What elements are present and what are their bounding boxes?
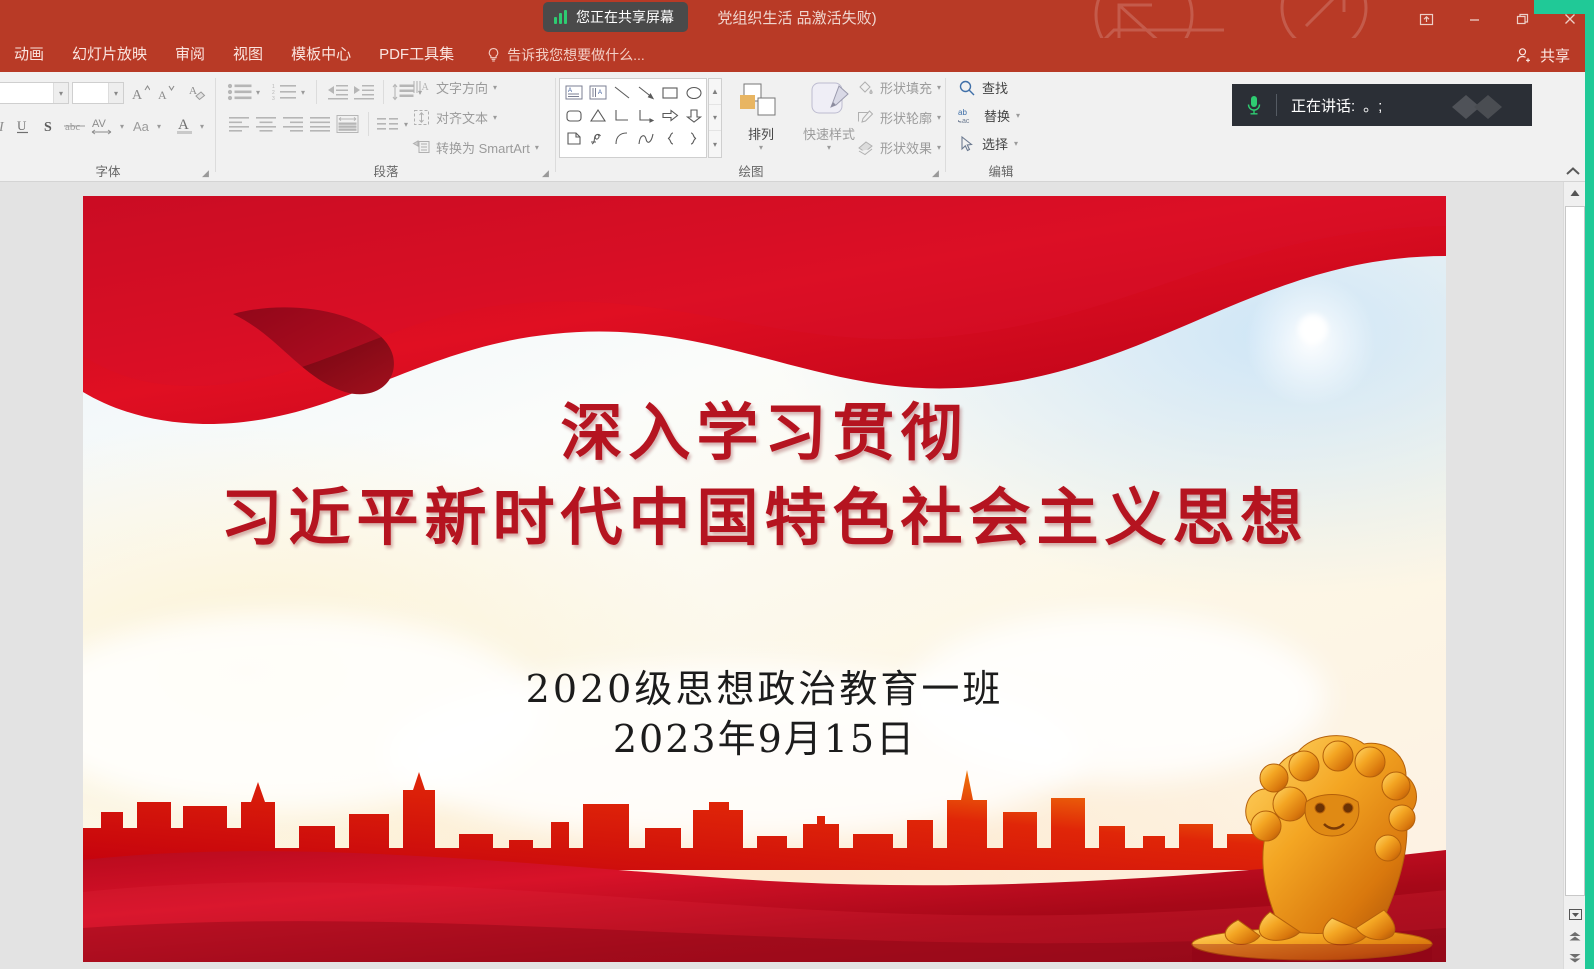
shape-ellipse-icon[interactable] bbox=[685, 83, 703, 102]
align-left-button[interactable] bbox=[226, 112, 252, 136]
chevron-down-icon[interactable]: ▾ bbox=[120, 122, 124, 131]
slide-subtitle[interactable]: 2020级思想政治教育一班 2023年9月15日 bbox=[83, 664, 1446, 764]
shape-effects-label: 形状效果 bbox=[880, 138, 932, 157]
shape-triangle-icon[interactable] bbox=[589, 106, 607, 125]
shrink-font-button[interactable]: A bbox=[153, 81, 177, 105]
shape-vertical-textbox-icon[interactable]: A bbox=[589, 83, 607, 102]
tab-slideshow[interactable]: 幻灯片放映 bbox=[58, 38, 161, 72]
title-bar: 党组织生活 品激活失败) 您正在共享屏幕 bbox=[0, 0, 1594, 38]
share-button[interactable]: 共享 bbox=[1505, 41, 1580, 69]
arrange-button[interactable]: 排列 ▾ bbox=[731, 80, 791, 152]
shape-fill-label: 形状填充 bbox=[880, 78, 932, 97]
shape-line-icon[interactable] bbox=[613, 83, 631, 102]
chevron-down-icon[interactable]: ▾ bbox=[937, 83, 941, 92]
svg-text:A: A bbox=[568, 88, 572, 94]
select-button[interactable]: 选择 ▾ bbox=[958, 134, 1018, 153]
group-label-drawing: 绘图 bbox=[556, 161, 946, 180]
svg-text:ac: ac bbox=[962, 118, 970, 125]
text-shadow-button[interactable]: S bbox=[38, 114, 60, 138]
shape-arc-icon[interactable] bbox=[613, 129, 631, 148]
replace-label: 替换 bbox=[984, 106, 1010, 125]
shape-outline-button[interactable]: 形状轮廓 ▾ bbox=[856, 108, 941, 127]
align-right-button[interactable] bbox=[280, 112, 306, 136]
tab-pdf-tools[interactable]: PDF工具集 bbox=[365, 38, 468, 72]
convert-to-smartart-button[interactable]: 转换为 SmartArt ▾ bbox=[412, 138, 539, 157]
chevron-down-icon[interactable]: ▾ bbox=[937, 143, 941, 152]
tab-animations[interactable]: 动画 bbox=[0, 38, 58, 72]
underline-button[interactable]: U bbox=[12, 114, 34, 138]
svg-text:A: A bbox=[598, 90, 602, 96]
align-text-label: 对齐文本 bbox=[436, 108, 488, 127]
distribute-text-button[interactable] bbox=[334, 112, 362, 136]
replace-icon: abac bbox=[958, 107, 978, 125]
align-center-button[interactable] bbox=[253, 112, 279, 136]
quick-styles-button[interactable]: 快速样式 ▾ bbox=[793, 80, 865, 152]
shape-elbow-connector-icon[interactable] bbox=[613, 106, 631, 125]
group-label-font: 字体 bbox=[0, 161, 216, 180]
group-label-editing: 编辑 bbox=[946, 161, 1056, 180]
chevron-down-icon[interactable]: ▾ bbox=[731, 143, 791, 152]
font-dialog-launcher[interactable]: ◢ bbox=[202, 168, 212, 178]
find-label: 查找 bbox=[982, 78, 1008, 97]
slide-editing-area[interactable]: 深入学习贯彻 习近平新时代中国特色社会主义思想 2020级思想政治教育一班 20… bbox=[0, 182, 1585, 969]
cursor-icon bbox=[958, 135, 976, 153]
quick-styles-label: 快速样式 bbox=[793, 124, 865, 143]
drawing-dialog-launcher[interactable]: ◢ bbox=[932, 168, 942, 178]
slide-title-line1: 深入学习贯彻 bbox=[83, 391, 1446, 475]
shapes-gallery-scrollbar[interactable]: ▲ ▾ ▾ bbox=[708, 78, 722, 158]
ribbon-group-drawing: A A bbox=[556, 72, 946, 182]
shape-scribble-icon[interactable] bbox=[589, 129, 607, 148]
scroll-down-button[interactable] bbox=[1564, 903, 1586, 925]
share-button-label: 共享 bbox=[1540, 45, 1570, 66]
chevron-down-icon[interactable]: ▾ bbox=[108, 83, 123, 103]
speaking-speaker-name: 。; bbox=[1363, 95, 1382, 116]
svg-text:Aa: Aa bbox=[133, 119, 150, 134]
shape-effects-icon bbox=[856, 138, 875, 157]
tell-me-box[interactable]: 告诉我您想要做什么... bbox=[486, 45, 645, 65]
font-name-input[interactable]: ▾ bbox=[0, 82, 69, 104]
shape-rectangle-icon[interactable] bbox=[661, 83, 679, 102]
next-slide-button[interactable] bbox=[1564, 947, 1586, 969]
shape-fill-icon bbox=[856, 78, 875, 97]
scroll-up-button[interactable] bbox=[1564, 182, 1586, 204]
chevron-down-icon[interactable]: ▾ bbox=[404, 120, 408, 129]
separator bbox=[316, 80, 317, 104]
smartart-icon bbox=[412, 138, 431, 157]
minimize-icon[interactable] bbox=[1450, 0, 1498, 38]
vertical-scrollbar[interactable] bbox=[1563, 182, 1585, 969]
quick-styles-icon bbox=[805, 80, 853, 122]
text-direction-label: 文字方向 bbox=[436, 78, 488, 97]
collapse-ribbon-icon[interactable] bbox=[1564, 162, 1582, 180]
slide-title[interactable]: 深入学习贯彻 习近平新时代中国特色社会主义思想 bbox=[83, 391, 1446, 561]
shapes-scroll-down[interactable]: ▾ bbox=[709, 105, 721, 131]
arrange-icon bbox=[738, 80, 784, 122]
scrollbar-bottom-controls bbox=[1564, 903, 1586, 969]
chevron-down-icon[interactable]: ▾ bbox=[1014, 139, 1018, 148]
shapes-more-button[interactable]: ▾ bbox=[709, 131, 721, 157]
bullets-button[interactable] bbox=[226, 80, 254, 104]
ribbon-tab-bar: 动画 幻灯片放映 审阅 视图 模板中心 PDF工具集 告诉我您想要做什么... … bbox=[0, 38, 1594, 72]
numbering-button[interactable]: 1 2 3 bbox=[271, 80, 299, 104]
svg-text:U: U bbox=[17, 118, 27, 133]
font-color-button[interactable]: A bbox=[172, 112, 198, 138]
shapes-gallery[interactable]: A A bbox=[559, 78, 707, 158]
paragraph-dialog-launcher[interactable]: ◢ bbox=[542, 168, 552, 178]
ribbon-group-paragraph: ▾ 1 2 3 ▾ ▾ bbox=[216, 72, 556, 182]
shape-right-brace-icon[interactable] bbox=[685, 129, 703, 148]
chevron-down-icon[interactable]: ▾ bbox=[493, 83, 497, 92]
chevron-down-icon[interactable]: ▾ bbox=[937, 113, 941, 122]
microphone-icon bbox=[1232, 94, 1276, 116]
svg-text:A: A bbox=[189, 85, 197, 97]
columns-button[interactable] bbox=[374, 112, 402, 136]
scrollbar-thumb[interactable] bbox=[1565, 206, 1585, 896]
shape-outline-label: 形状轮廓 bbox=[880, 108, 932, 127]
shape-effects-button[interactable]: 形状效果 ▾ bbox=[856, 138, 941, 157]
slide-subtitle-line2: 2023年9月15日 bbox=[83, 714, 1446, 764]
character-spacing-button[interactable]: AV bbox=[90, 114, 122, 138]
panel-divider bbox=[1276, 94, 1277, 116]
ribbon-display-options-icon[interactable] bbox=[1402, 0, 1450, 38]
shape-outline-icon bbox=[856, 108, 875, 127]
slide-title-line2: 习近平新时代中国特色社会主义思想 bbox=[83, 475, 1446, 561]
shape-right-arrow-icon[interactable] bbox=[661, 106, 679, 125]
svg-text:A: A bbox=[422, 82, 430, 93]
strikethrough-button[interactable]: abc bbox=[62, 114, 90, 138]
chevron-down-icon[interactable]: ▾ bbox=[535, 143, 539, 152]
svg-text:ab: ab bbox=[958, 108, 967, 117]
shape-down-arrow-icon[interactable] bbox=[685, 106, 703, 125]
shape-elbow-arrow-icon[interactable] bbox=[637, 106, 655, 125]
font-size-input[interactable]: ▾ bbox=[72, 82, 124, 104]
speaking-label: 正在讲话: bbox=[1291, 95, 1355, 116]
shapes-scroll-up[interactable]: ▲ bbox=[709, 79, 721, 105]
screen-sharing-toast: 您正在共享屏幕 bbox=[543, 2, 688, 32]
previous-slide-button[interactable] bbox=[1564, 925, 1586, 947]
tab-template-center[interactable]: 模板中心 bbox=[277, 38, 365, 72]
chevron-down-icon[interactable]: ▾ bbox=[256, 88, 260, 97]
tab-review[interactable]: 审阅 bbox=[161, 38, 219, 72]
justify-button[interactable] bbox=[307, 112, 333, 136]
ribbon-group-font: ▾ ▾ A A A I U S abc AV ▾ Aa bbox=[0, 72, 216, 182]
svg-text:3: 3 bbox=[272, 96, 275, 102]
ribbon-tabs: 动画 幻灯片放映 审阅 视图 模板中心 PDF工具集 告诉我您想要做什么... bbox=[0, 38, 1594, 72]
svg-text:I: I bbox=[0, 120, 5, 135]
shape-left-brace-icon[interactable] bbox=[661, 129, 679, 148]
chevron-down-icon[interactable]: ▾ bbox=[157, 122, 161, 131]
search-icon bbox=[958, 79, 976, 97]
separator bbox=[383, 80, 384, 104]
speaking-indicator-panel[interactable]: 正在讲话: 。; bbox=[1232, 84, 1532, 126]
chevron-down-icon[interactable]: ▾ bbox=[53, 83, 68, 103]
share-person-icon bbox=[1515, 46, 1534, 65]
text-direction-button[interactable]: A 文字方向 ▾ bbox=[412, 78, 497, 97]
group-label-paragraph: 段落 bbox=[216, 161, 556, 180]
align-text-icon bbox=[412, 108, 431, 127]
shape-curve-icon[interactable] bbox=[637, 129, 655, 148]
shape-folded-corner-icon[interactable] bbox=[565, 129, 583, 148]
select-label: 选择 bbox=[982, 134, 1008, 153]
signal-bars-icon bbox=[554, 10, 567, 24]
screen-share-border-right bbox=[1585, 0, 1594, 969]
arrange-label: 排列 bbox=[731, 124, 791, 143]
app-logo-icon bbox=[1452, 92, 1522, 126]
shape-fill-button[interactable]: 形状填充 ▾ bbox=[856, 78, 941, 97]
replace-button[interactable]: abac 替换 ▾ bbox=[958, 106, 1020, 125]
grow-font-button[interactable]: A bbox=[128, 81, 152, 105]
svg-text:abc: abc bbox=[65, 121, 80, 133]
shape-rounded-rectangle-icon[interactable] bbox=[565, 106, 583, 125]
decrease-indent-button[interactable] bbox=[324, 80, 350, 104]
change-case-button[interactable]: Aa bbox=[130, 114, 156, 138]
lightbulb-icon bbox=[486, 47, 501, 63]
chevron-down-icon[interactable]: ▾ bbox=[301, 88, 305, 97]
ribbon-group-editing: 查找 abac 替换 ▾ 选择 ▾ 编辑 bbox=[946, 72, 1056, 182]
align-text-button[interactable]: 对齐文本 ▾ bbox=[412, 108, 497, 127]
chevron-down-icon[interactable]: ▾ bbox=[793, 143, 865, 152]
convert-to-smartart-label: 转换为 SmartArt bbox=[436, 138, 530, 157]
shape-textbox-icon[interactable]: A bbox=[565, 83, 583, 102]
document-title: 党组织生活 品激活失败) bbox=[0, 0, 1594, 38]
svg-text:AV: AV bbox=[92, 118, 107, 130]
chevron-down-icon[interactable]: ▾ bbox=[1016, 111, 1020, 120]
separator bbox=[368, 112, 369, 136]
slide-canvas[interactable]: 深入学习贯彻 习近平新时代中国特色社会主义思想 2020级思想政治教育一班 20… bbox=[83, 196, 1446, 962]
chevron-down-icon[interactable]: ▾ bbox=[493, 113, 497, 122]
tab-view[interactable]: 视图 bbox=[219, 38, 277, 72]
svg-text:A: A bbox=[178, 117, 189, 133]
share-toast-label: 您正在共享屏幕 bbox=[576, 7, 674, 27]
find-button[interactable]: 查找 bbox=[958, 78, 1008, 97]
increase-indent-button[interactable] bbox=[350, 80, 376, 104]
clear-formatting-button[interactable]: A bbox=[186, 81, 210, 105]
slide-subtitle-line1: 2020级思想政治教育一班 bbox=[83, 664, 1446, 714]
svg-text:A: A bbox=[158, 88, 167, 102]
svg-text:A: A bbox=[132, 88, 143, 103]
text-direction-icon: A bbox=[412, 78, 431, 97]
shape-arrow-icon[interactable] bbox=[637, 83, 655, 102]
svg-text:S: S bbox=[44, 120, 52, 135]
tell-me-label: 告诉我您想要做什么... bbox=[507, 45, 645, 65]
chevron-down-icon[interactable]: ▾ bbox=[200, 122, 204, 131]
